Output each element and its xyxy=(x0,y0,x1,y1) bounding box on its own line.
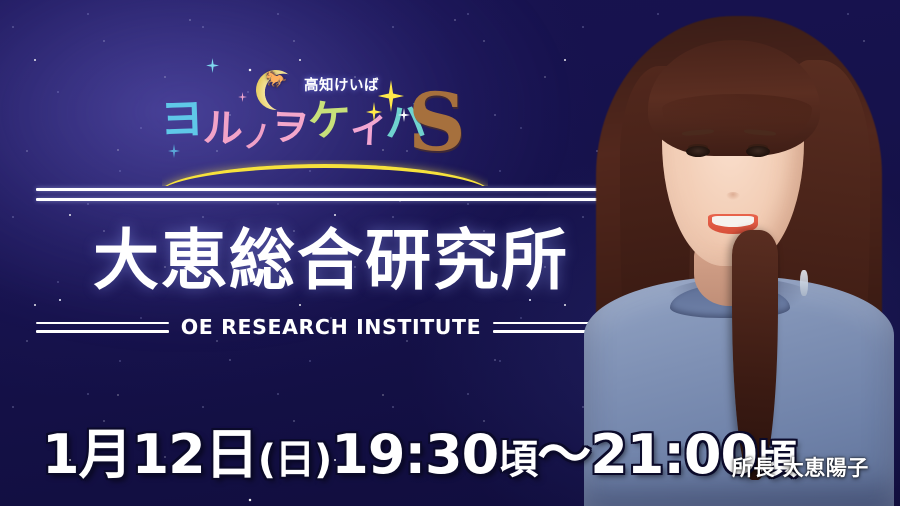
sparkle-star-icon-4 xyxy=(206,58,219,73)
program-logo-kana: ヨルノヲケイバ xyxy=(160,98,426,153)
schedule-month: 1月 xyxy=(42,423,132,486)
program-logo: 🐎 高知けいば ヨルノヲケイバ S xyxy=(160,60,490,185)
title-top-double-rule xyxy=(36,188,626,201)
schedule-start-time: 19:30 xyxy=(331,423,498,486)
logo-kana-3: ノ xyxy=(240,112,272,164)
broadcast-promo-banner: 🐎 高知けいば ヨルノヲケイバ S 大恵総合研究所 OE RESEARCH IN… xyxy=(0,0,900,506)
host-credit: 所長 大恵陽子 xyxy=(732,452,869,482)
logo-kana-5: ケ xyxy=(307,95,352,147)
program-kochi-label: 高知けいば xyxy=(304,74,379,95)
logo-kana-2: ル xyxy=(202,103,244,155)
schedule-weekday: (日) xyxy=(258,437,332,483)
title-block: 大恵総合研究所 OE RESEARCH INSTITUTE xyxy=(36,188,626,339)
rule-line-1 xyxy=(36,188,626,191)
portrait-earring xyxy=(800,270,808,296)
logo-kana-4: ヲ xyxy=(270,101,309,152)
schedule-separator: 〜 xyxy=(537,423,590,486)
horse-on-moon-icon: 🐎 xyxy=(265,70,288,90)
page-title: 大恵総合研究所 xyxy=(36,217,626,303)
rule-line-3 xyxy=(36,322,169,325)
portrait-eye-left xyxy=(686,146,710,157)
rule-line-2 xyxy=(36,198,626,201)
rule-line-4 xyxy=(36,330,169,333)
broadcast-schedule: 1月12日(日)19:30頃〜21:00頃 xyxy=(42,424,796,491)
logo-kana-1: ヨ xyxy=(159,94,204,145)
page-subtitle: OE RESEARCH INSTITUTE xyxy=(181,315,482,339)
subtitle-rule-left xyxy=(36,322,169,333)
logo-s-letter: S xyxy=(408,82,466,162)
schedule-start-approx: 頃 xyxy=(498,437,537,483)
portrait-eye-right xyxy=(746,146,770,157)
logo-kana-6: イ xyxy=(349,106,387,158)
portrait-nose xyxy=(726,192,740,200)
logo-gold-arc xyxy=(162,160,488,186)
subtitle-row: OE RESEARCH INSTITUTE xyxy=(36,315,626,339)
schedule-day: 12日 xyxy=(132,423,258,486)
